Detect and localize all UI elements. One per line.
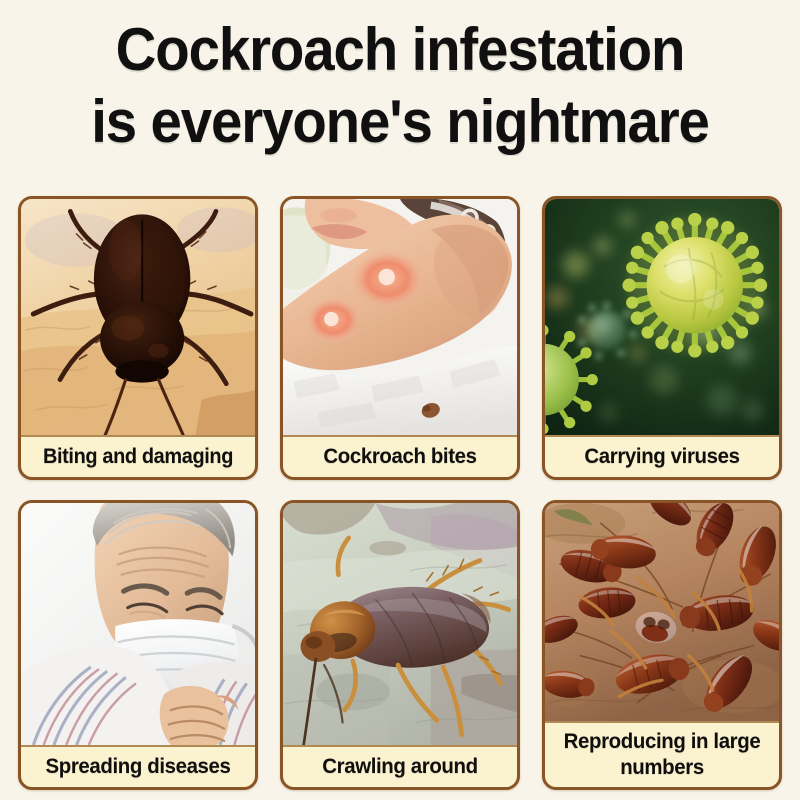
card-caption: Crawling around	[289, 747, 511, 787]
card-cockroach-bites[interactable]: Cockroach bites	[280, 196, 520, 480]
coughing-man-mask-photo	[21, 503, 255, 747]
card-reproducing-in-large-numbers[interactable]: Reproducing in large numbers	[542, 500, 782, 790]
card-caption: Biting and damaging	[27, 437, 249, 477]
poster-root: Cockroach infestation is everyone's nigh…	[0, 0, 800, 800]
page-title: Cockroach infestation is everyone's nigh…	[0, 0, 800, 158]
bitten-arm-photo	[283, 199, 517, 437]
cockroach-swarm-photo	[545, 503, 779, 723]
card-biting-and-damaging[interactable]: Biting and damaging	[18, 196, 258, 480]
title-line-2: is everyone's nightmare	[24, 86, 776, 158]
card-caption: Carrying viruses	[551, 437, 773, 477]
card-carrying-viruses[interactable]: Carrying viruses	[542, 196, 782, 480]
benefit-card-grid: Biting and damaging	[18, 196, 782, 790]
cockroach-on-bread-photo	[21, 199, 255, 437]
card-caption: Cockroach bites	[289, 437, 511, 477]
virus-particles-photo	[545, 199, 779, 437]
title-line-1: Cockroach infestation	[24, 14, 776, 86]
card-spreading-diseases[interactable]: Spreading diseases	[18, 500, 258, 790]
card-caption: Reproducing in large numbers	[551, 723, 773, 787]
card-crawling-around[interactable]: Crawling around	[280, 500, 520, 790]
cockroach-on-concrete-photo	[283, 503, 517, 747]
card-caption: Spreading diseases	[27, 747, 249, 787]
